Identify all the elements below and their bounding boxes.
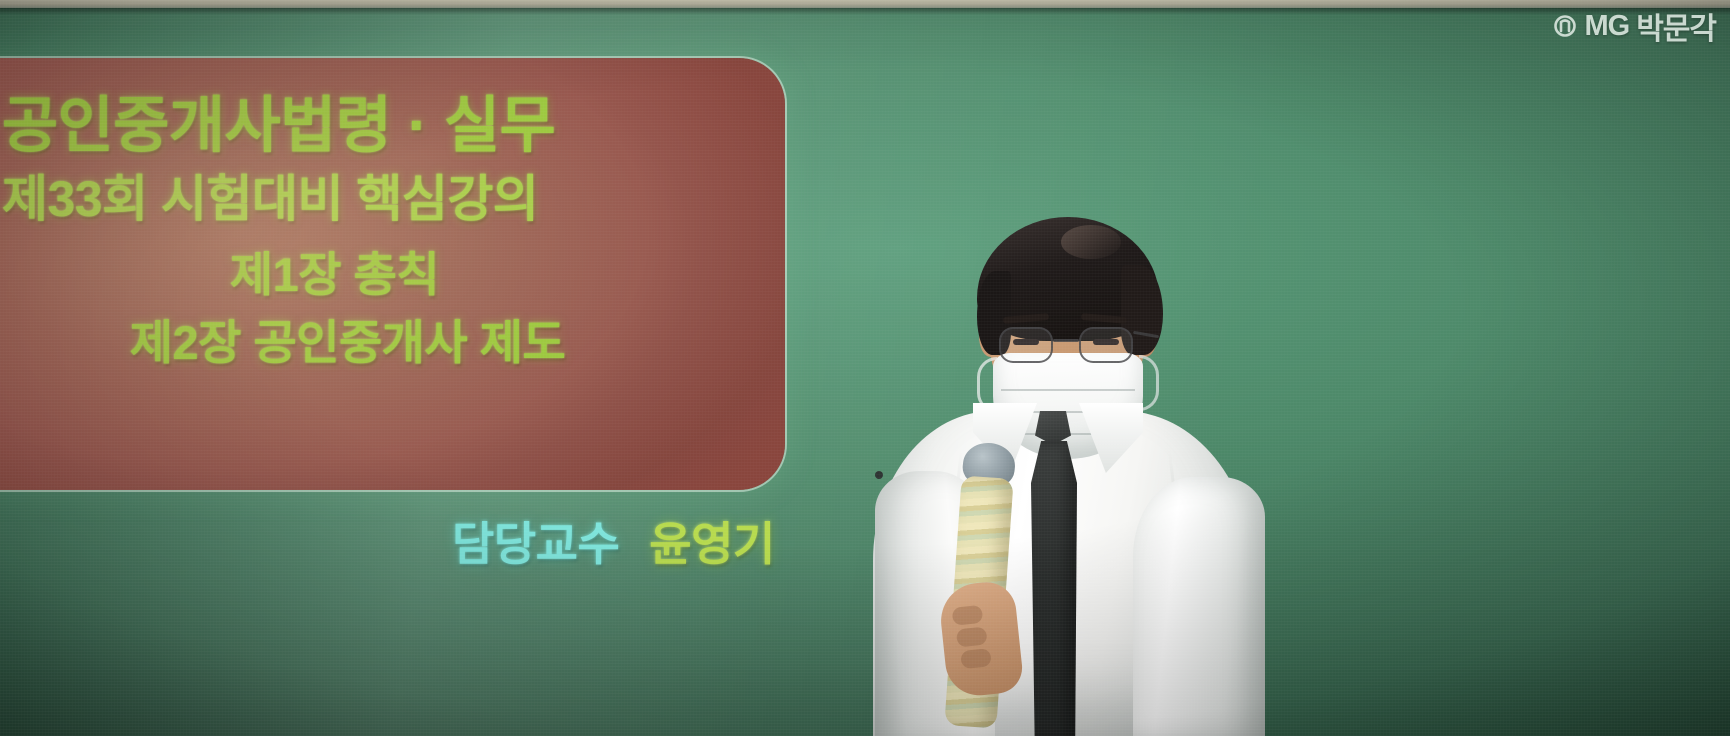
- watermark-brand-latin: MG: [1584, 10, 1629, 43]
- brand-watermark: MG 박문각: [1553, 4, 1716, 48]
- mg-circle-logo-icon: [1553, 13, 1577, 39]
- lecture-video-frame: 공인중개사법령 · 실무 제33회 시험대비 핵심강의 제1장 총칙 제2장 공…: [0, 0, 1730, 736]
- frame-vignette: [0, 0, 1730, 736]
- watermark-brand-korean: 박문각: [1636, 4, 1716, 48]
